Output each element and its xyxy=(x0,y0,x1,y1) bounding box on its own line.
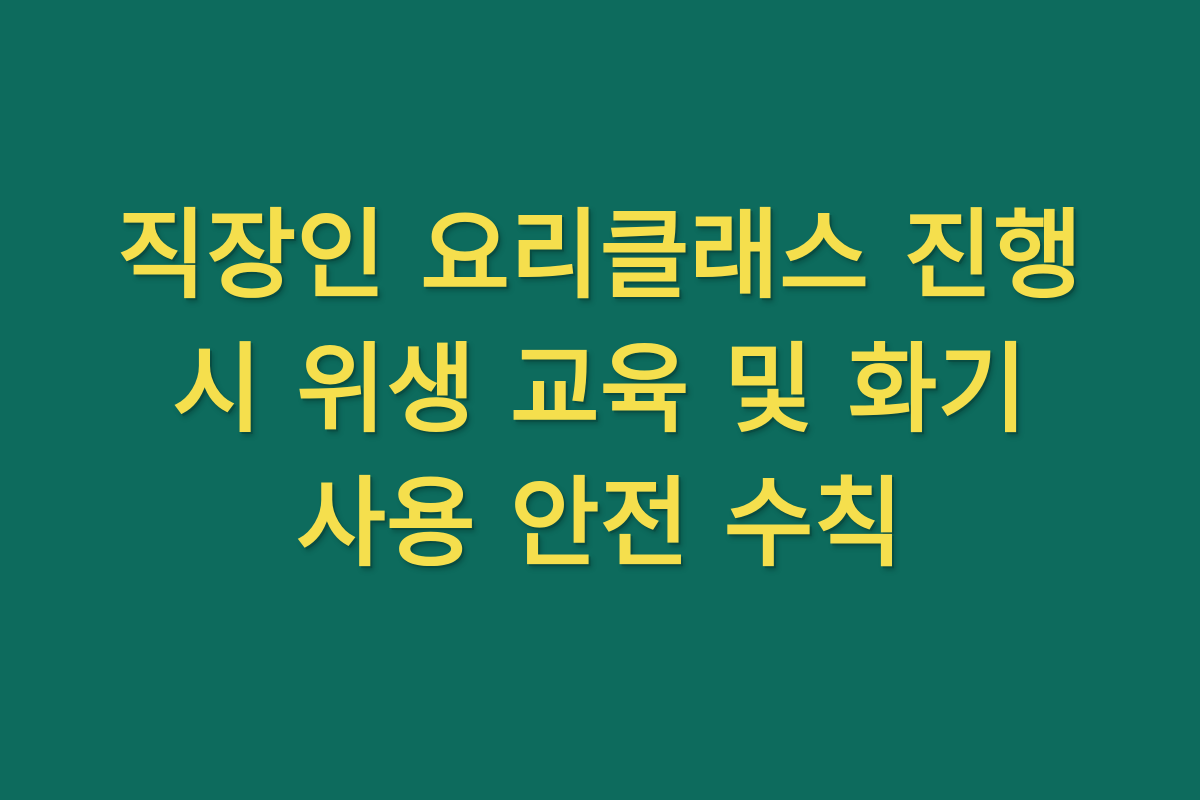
headline-text: 직장인 요리클래스 진행 시 위생 교육 및 화기 사용 안전 수칙 xyxy=(80,189,1120,591)
banner-card: 직장인 요리클래스 진행 시 위생 교육 및 화기 사용 안전 수칙 xyxy=(0,0,1200,800)
